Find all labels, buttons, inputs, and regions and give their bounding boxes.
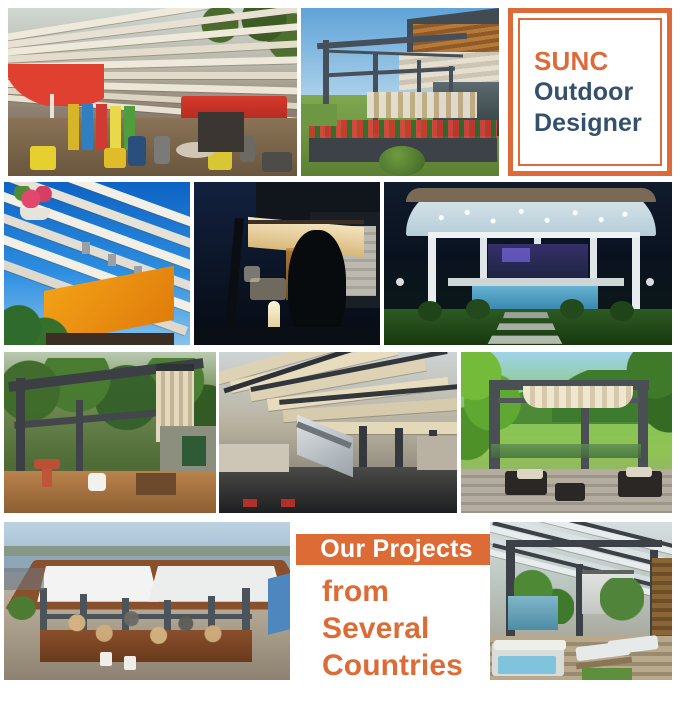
photo-retractable-roof-cafe-terrace [8, 8, 297, 176]
tagline-line-countries: Countries [322, 647, 502, 684]
photo-white-slat-pergola-blue-sky [4, 182, 190, 345]
projects-tagline: from Several Countries [322, 573, 502, 685]
tagline-line-from: from [322, 573, 502, 610]
photo-pool-pergola-night-lighting [384, 182, 672, 345]
collage-canvas: SUNC Outdoor Designer [0, 0, 680, 702]
photo-long-restaurant-pergola-flowerbeds [301, 8, 499, 176]
logo-line-sunc: SUNC [534, 46, 660, 78]
logo-line-outdoor: Outdoor [534, 77, 660, 108]
our-projects-banner: Our Projects [296, 534, 497, 565]
logo-line-designer: Designer [534, 108, 660, 139]
photo-lakeside-pergola-lounge [461, 352, 672, 513]
photo-garden-pergola-folding-roof [4, 352, 216, 513]
photo-curved-awning-shopfront [219, 352, 457, 513]
photo-spa-terrace-pergola-loungers [490, 522, 672, 680]
our-projects-banner-label: Our Projects [320, 535, 472, 564]
sunc-logo: SUNC Outdoor Designer [508, 8, 672, 176]
photo-waterfront-restaurant-pergola [4, 522, 290, 680]
photo-night-patio-awning-house [194, 182, 380, 345]
tagline-line-several: Several [322, 610, 502, 647]
